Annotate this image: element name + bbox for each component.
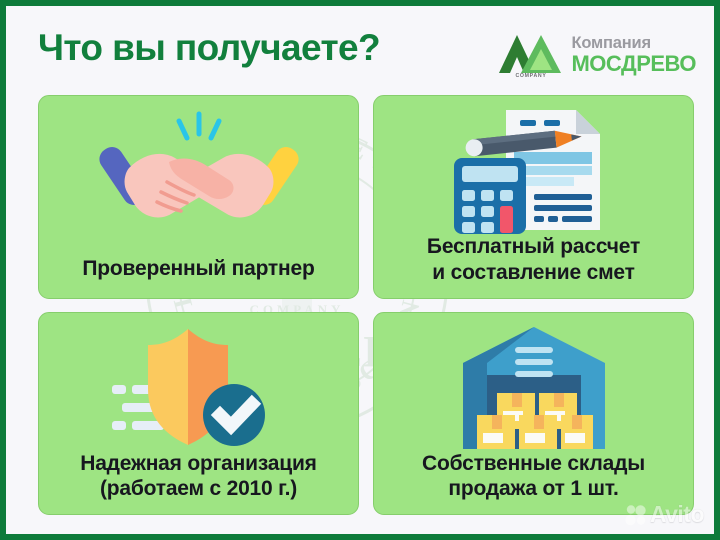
brand-line-2: МОСДРЕВО	[571, 53, 696, 75]
benefit-card-label: Проверенный партнер	[39, 256, 358, 298]
benefit-card-reliable-company[interactable]: Надежная организация (работаем с 2010 г.…	[38, 312, 359, 516]
brand-wordmark: Компания МОСДРЕВО	[571, 35, 696, 75]
shield-check-icon	[39, 321, 358, 453]
brand-line-1: Компания	[571, 35, 696, 52]
benefit-label-line-1: Бесплатный рассчет	[374, 234, 693, 260]
benefits-grid: Проверенный партнер	[38, 95, 694, 515]
benefit-card-label: Надежная организация (работаем с 2010 г.…	[39, 451, 358, 514]
mosdrevo-logo-icon: COMPANY	[497, 32, 563, 78]
warehouse-boxes-icon	[374, 321, 693, 453]
benefit-label-line-2: и составление смет	[374, 260, 693, 286]
avito-watermark: Avito	[625, 503, 704, 526]
logo-company-sublabel: COMPANY	[515, 73, 546, 79]
avito-dots-icon	[625, 504, 647, 526]
avito-label: Avito	[650, 503, 704, 526]
handshake-icon	[39, 104, 358, 236]
benefit-label-line-1: Проверенный партнер	[39, 256, 358, 282]
benefit-label-line-1: Надежная организация	[39, 451, 358, 477]
benefit-card-verified-partner[interactable]: Проверенный партнер	[38, 95, 359, 299]
calculator-document-icon	[374, 104, 693, 236]
brand-lockup: COMPANY Компания МОСДРЕВО	[497, 32, 696, 78]
page-title: Что вы получаете?	[38, 27, 380, 69]
poster-frame: WWW.MOSDREVO.RU LUMBER PRODUCTION COMPAN…	[0, 0, 720, 540]
poster-header: Что вы получаете? COMPANY Компания МОСДР…	[6, 6, 714, 92]
benefit-card-own-warehouses[interactable]: Собственные склады продажа от 1 шт.	[373, 312, 694, 516]
benefit-card-label: Бесплатный рассчет и составление смет	[374, 234, 693, 297]
benefit-label-line-2: продажа от 1 шт.	[374, 476, 693, 502]
benefit-label-line-2: (работаем с 2010 г.)	[39, 476, 358, 502]
benefit-label-line-1: Собственные склады	[374, 451, 693, 477]
benefit-card-free-estimate[interactable]: Бесплатный рассчет и составление смет	[373, 95, 694, 299]
